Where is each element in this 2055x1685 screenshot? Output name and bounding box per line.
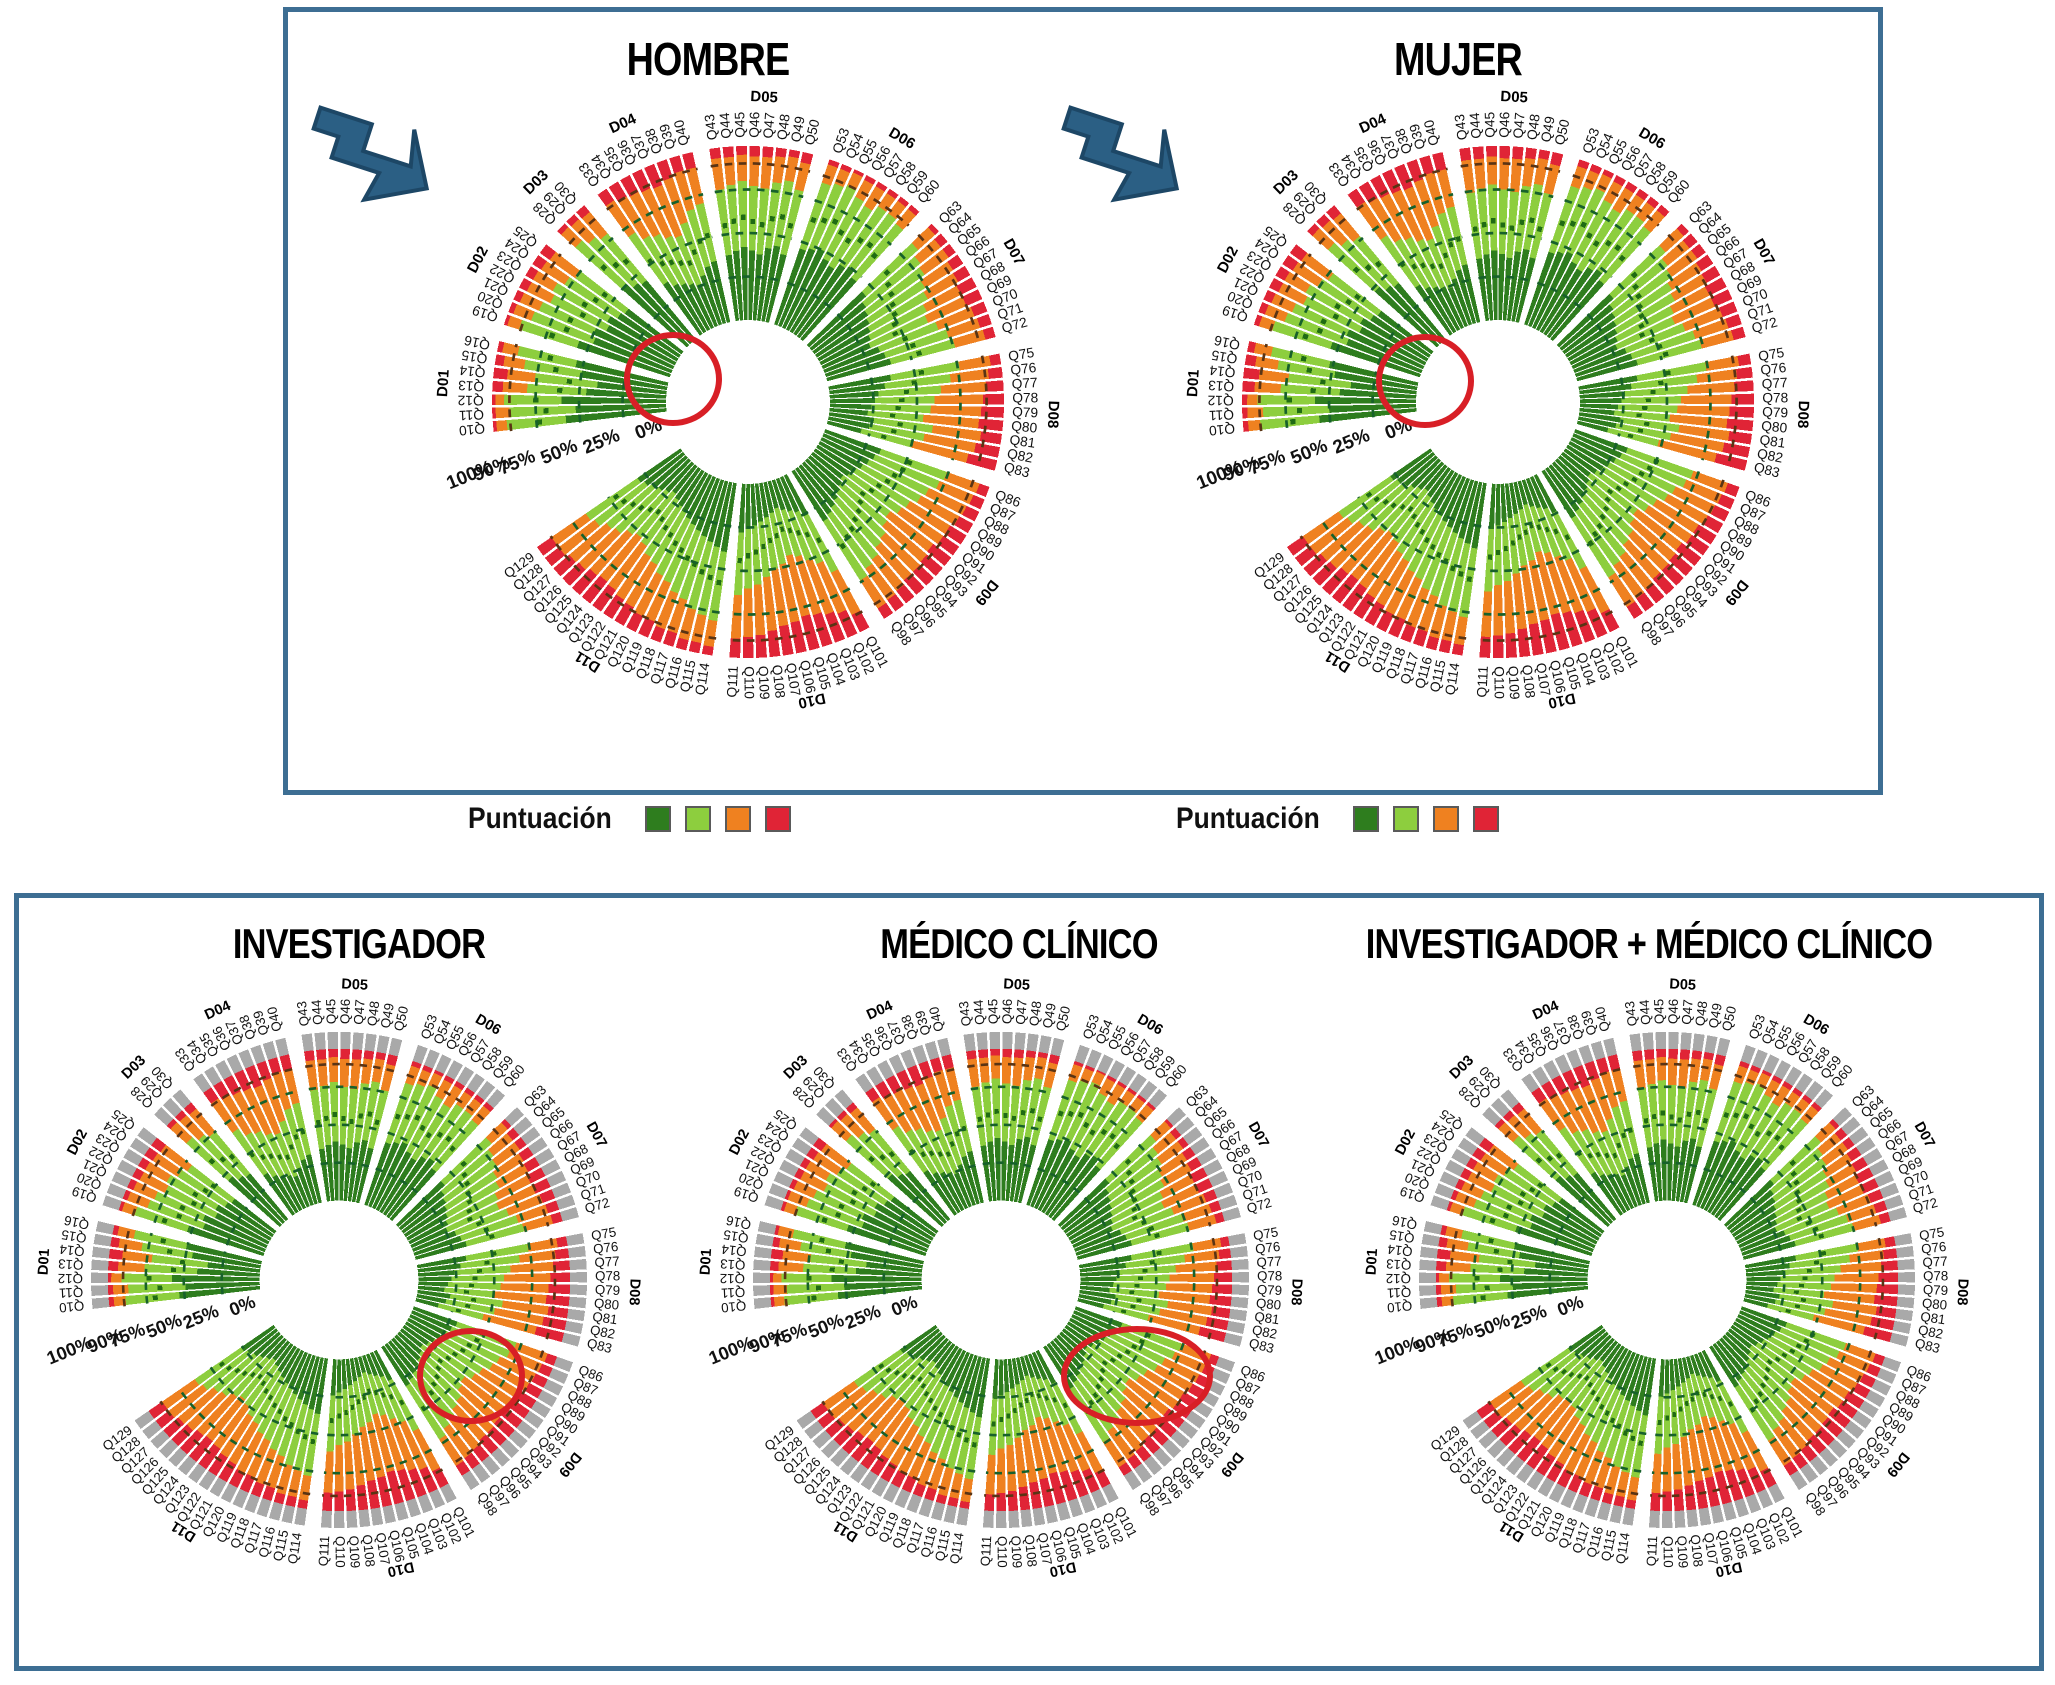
legend-title: Puntuación — [468, 802, 612, 836]
domain-label: D07 — [1000, 236, 1028, 268]
legend-swatch-1 — [645, 806, 671, 832]
legend-swatch-1 — [1353, 806, 1379, 832]
pointer-arrow-hombre — [298, 107, 438, 217]
domain-label: D04 — [607, 110, 640, 137]
legend-hombre: Puntuación — [468, 802, 791, 836]
domain-label: D01 — [35, 1248, 53, 1276]
circular-chart-investigador-medico: Q10Q11Q12Q13Q14Q15Q16Q19Q20Q21Q22Q23Q24Q… — [1357, 970, 1977, 1590]
radial-axis-tick: 100% — [443, 456, 496, 494]
domain-label: D08 — [625, 1278, 642, 1305]
legend-title: Puntuación — [1176, 802, 1320, 836]
legend-swatch-3 — [725, 806, 751, 832]
radial-axis-tick: 25% — [842, 1300, 884, 1333]
question-label: Q12 — [458, 393, 484, 408]
domain-label: D07 — [1750, 236, 1778, 268]
legend-mujer: Puntuación — [1176, 802, 1499, 836]
radial-axis-tick: 100% — [44, 1331, 95, 1368]
radial-axis-tick: 25% — [580, 424, 623, 458]
domain-label: D02 — [1392, 1127, 1419, 1158]
question-label: Q78 — [1012, 390, 1039, 405]
annotation-circle-medico-clinico — [1061, 1326, 1213, 1426]
radial-axis-tick: 100% — [1193, 456, 1246, 494]
radial-axis-tick: 50% — [1287, 435, 1330, 469]
domain-label: D07 — [1911, 1119, 1938, 1150]
question-label: Q109 — [1505, 666, 1522, 700]
radial-axis-tick: 0% — [1554, 1291, 1586, 1320]
domain-label: D01 — [434, 369, 453, 398]
circular-chart-mujer: Q10Q11Q12Q13Q14Q15Q16Q19Q20Q21Q22Q23Q24Q… — [1178, 82, 1818, 722]
domain-label: D01 — [697, 1248, 715, 1276]
question-label: Q111 — [978, 1535, 995, 1566]
question-label: Q77 — [1761, 375, 1788, 392]
bottom-panel: INVESTIGADOR MÉDICO CLÍNICO INVESTIGADOR… — [14, 893, 2044, 1671]
domain-label: D08 — [1287, 1278, 1304, 1305]
domain-label: D06 — [472, 1011, 503, 1038]
domain-label: D01 — [1184, 369, 1203, 398]
question-label: Q111 — [1644, 1535, 1661, 1566]
question-label: Q78 — [1762, 390, 1789, 405]
chart-title-medico-clinico: MÉDICO CLÍNICO — [765, 920, 1273, 968]
domain-label: D05 — [750, 88, 778, 106]
question-label: Q110 — [1661, 1536, 1676, 1568]
chart-title-investigador: INVESTIGADOR — [88, 920, 629, 968]
domain-label: D02 — [64, 1127, 91, 1158]
domain-label: D01 — [1363, 1248, 1381, 1276]
question-label: Q12 — [1208, 393, 1234, 408]
top-panel: HOMBRE MUJER Q10Q11Q12Q13Q14Q15Q16Q19Q20… — [283, 7, 1883, 795]
radial-axis-tick: 0% — [226, 1291, 258, 1320]
domain-label: D05 — [1003, 976, 1031, 993]
domain-label: D02 — [464, 244, 492, 276]
domain-label: D06 — [1134, 1011, 1165, 1038]
domain-label: D08 — [1953, 1278, 1970, 1305]
domain-label: D05 — [1500, 88, 1528, 106]
circular-chart-investigador: Q10Q11Q12Q13Q14Q15Q16Q19Q20Q21Q22Q23Q24Q… — [29, 970, 649, 1590]
domain-label: D05 — [341, 976, 369, 993]
annotation-circle-investigador — [417, 1328, 525, 1424]
question-label: Q77 — [1011, 375, 1038, 392]
domain-label: D08 — [1794, 400, 1812, 428]
legend-swatch-2 — [685, 806, 711, 832]
question-label: Q45 — [732, 111, 748, 138]
domain-label: D08 — [1044, 400, 1062, 428]
radial-axis-tick: 0% — [888, 1291, 920, 1320]
chart-title-hombre: HOMBRE — [536, 32, 880, 86]
domain-label: D04 — [1530, 998, 1562, 1024]
chart-title-investigador-medico: INVESTIGADOR + MÉDICO CLÍNICO — [1321, 920, 1977, 968]
radial-axis-tick: 25% — [180, 1300, 222, 1333]
question-label: Q11 — [459, 407, 485, 423]
question-label: Q111 — [316, 1535, 333, 1566]
question-label: Q111 — [1474, 666, 1491, 698]
pointer-arrow-mujer — [1048, 107, 1188, 217]
radial-axis-tick: 50% — [1471, 1309, 1513, 1342]
annotation-circle-hombre — [624, 332, 722, 426]
domain-label: D06 — [886, 124, 918, 153]
question-label: Q111 — [724, 666, 741, 698]
radial-axis-tick: 25% — [1508, 1300, 1550, 1333]
circular-chart-hombre: Q10Q11Q12Q13Q14Q15Q16Q19Q20Q21Q22Q23Q24Q… — [428, 82, 1068, 722]
domain-label: D06 — [1800, 1011, 1831, 1038]
domain-label: D02 — [1214, 244, 1242, 276]
radial-axis-tick: 50% — [143, 1309, 185, 1342]
domain-label: D06 — [1636, 124, 1668, 153]
question-label: Q110 — [995, 1536, 1010, 1568]
radial-axis-tick: 50% — [805, 1309, 847, 1342]
question-label: Q110 — [742, 666, 757, 699]
circular-chart-medico-clinico: Q10Q11Q12Q13Q14Q15Q16Q19Q20Q21Q22Q23Q24Q… — [691, 970, 1311, 1590]
radial-axis-tick: 100% — [706, 1331, 757, 1368]
legend-swatch-4 — [765, 806, 791, 832]
domain-label: D04 — [202, 998, 234, 1024]
domain-label: D02 — [726, 1127, 753, 1158]
domain-label: D05 — [1669, 976, 1697, 993]
question-label: Q109 — [755, 666, 772, 700]
chart-title-mujer: MUJER — [1286, 32, 1630, 86]
domain-label: D07 — [1245, 1119, 1272, 1150]
legend-swatch-3 — [1433, 806, 1459, 832]
radial-axis-tick: 100% — [1372, 1331, 1423, 1368]
domain-label: D04 — [864, 998, 896, 1024]
legend-swatch-2 — [1393, 806, 1419, 832]
legend-swatch-4 — [1473, 806, 1499, 832]
radial-axis-tick: 25% — [1330, 424, 1373, 458]
question-label: Q110 — [333, 1536, 348, 1568]
question-label: Q11 — [1209, 407, 1235, 423]
radial-axis-tick: 50% — [537, 435, 580, 469]
question-label: Q110 — [1492, 666, 1507, 699]
domain-label: D04 — [1357, 110, 1390, 137]
question-label: Q45 — [1482, 111, 1498, 138]
annotation-circle-mujer — [1376, 334, 1474, 428]
domain-label: D07 — [583, 1119, 610, 1150]
